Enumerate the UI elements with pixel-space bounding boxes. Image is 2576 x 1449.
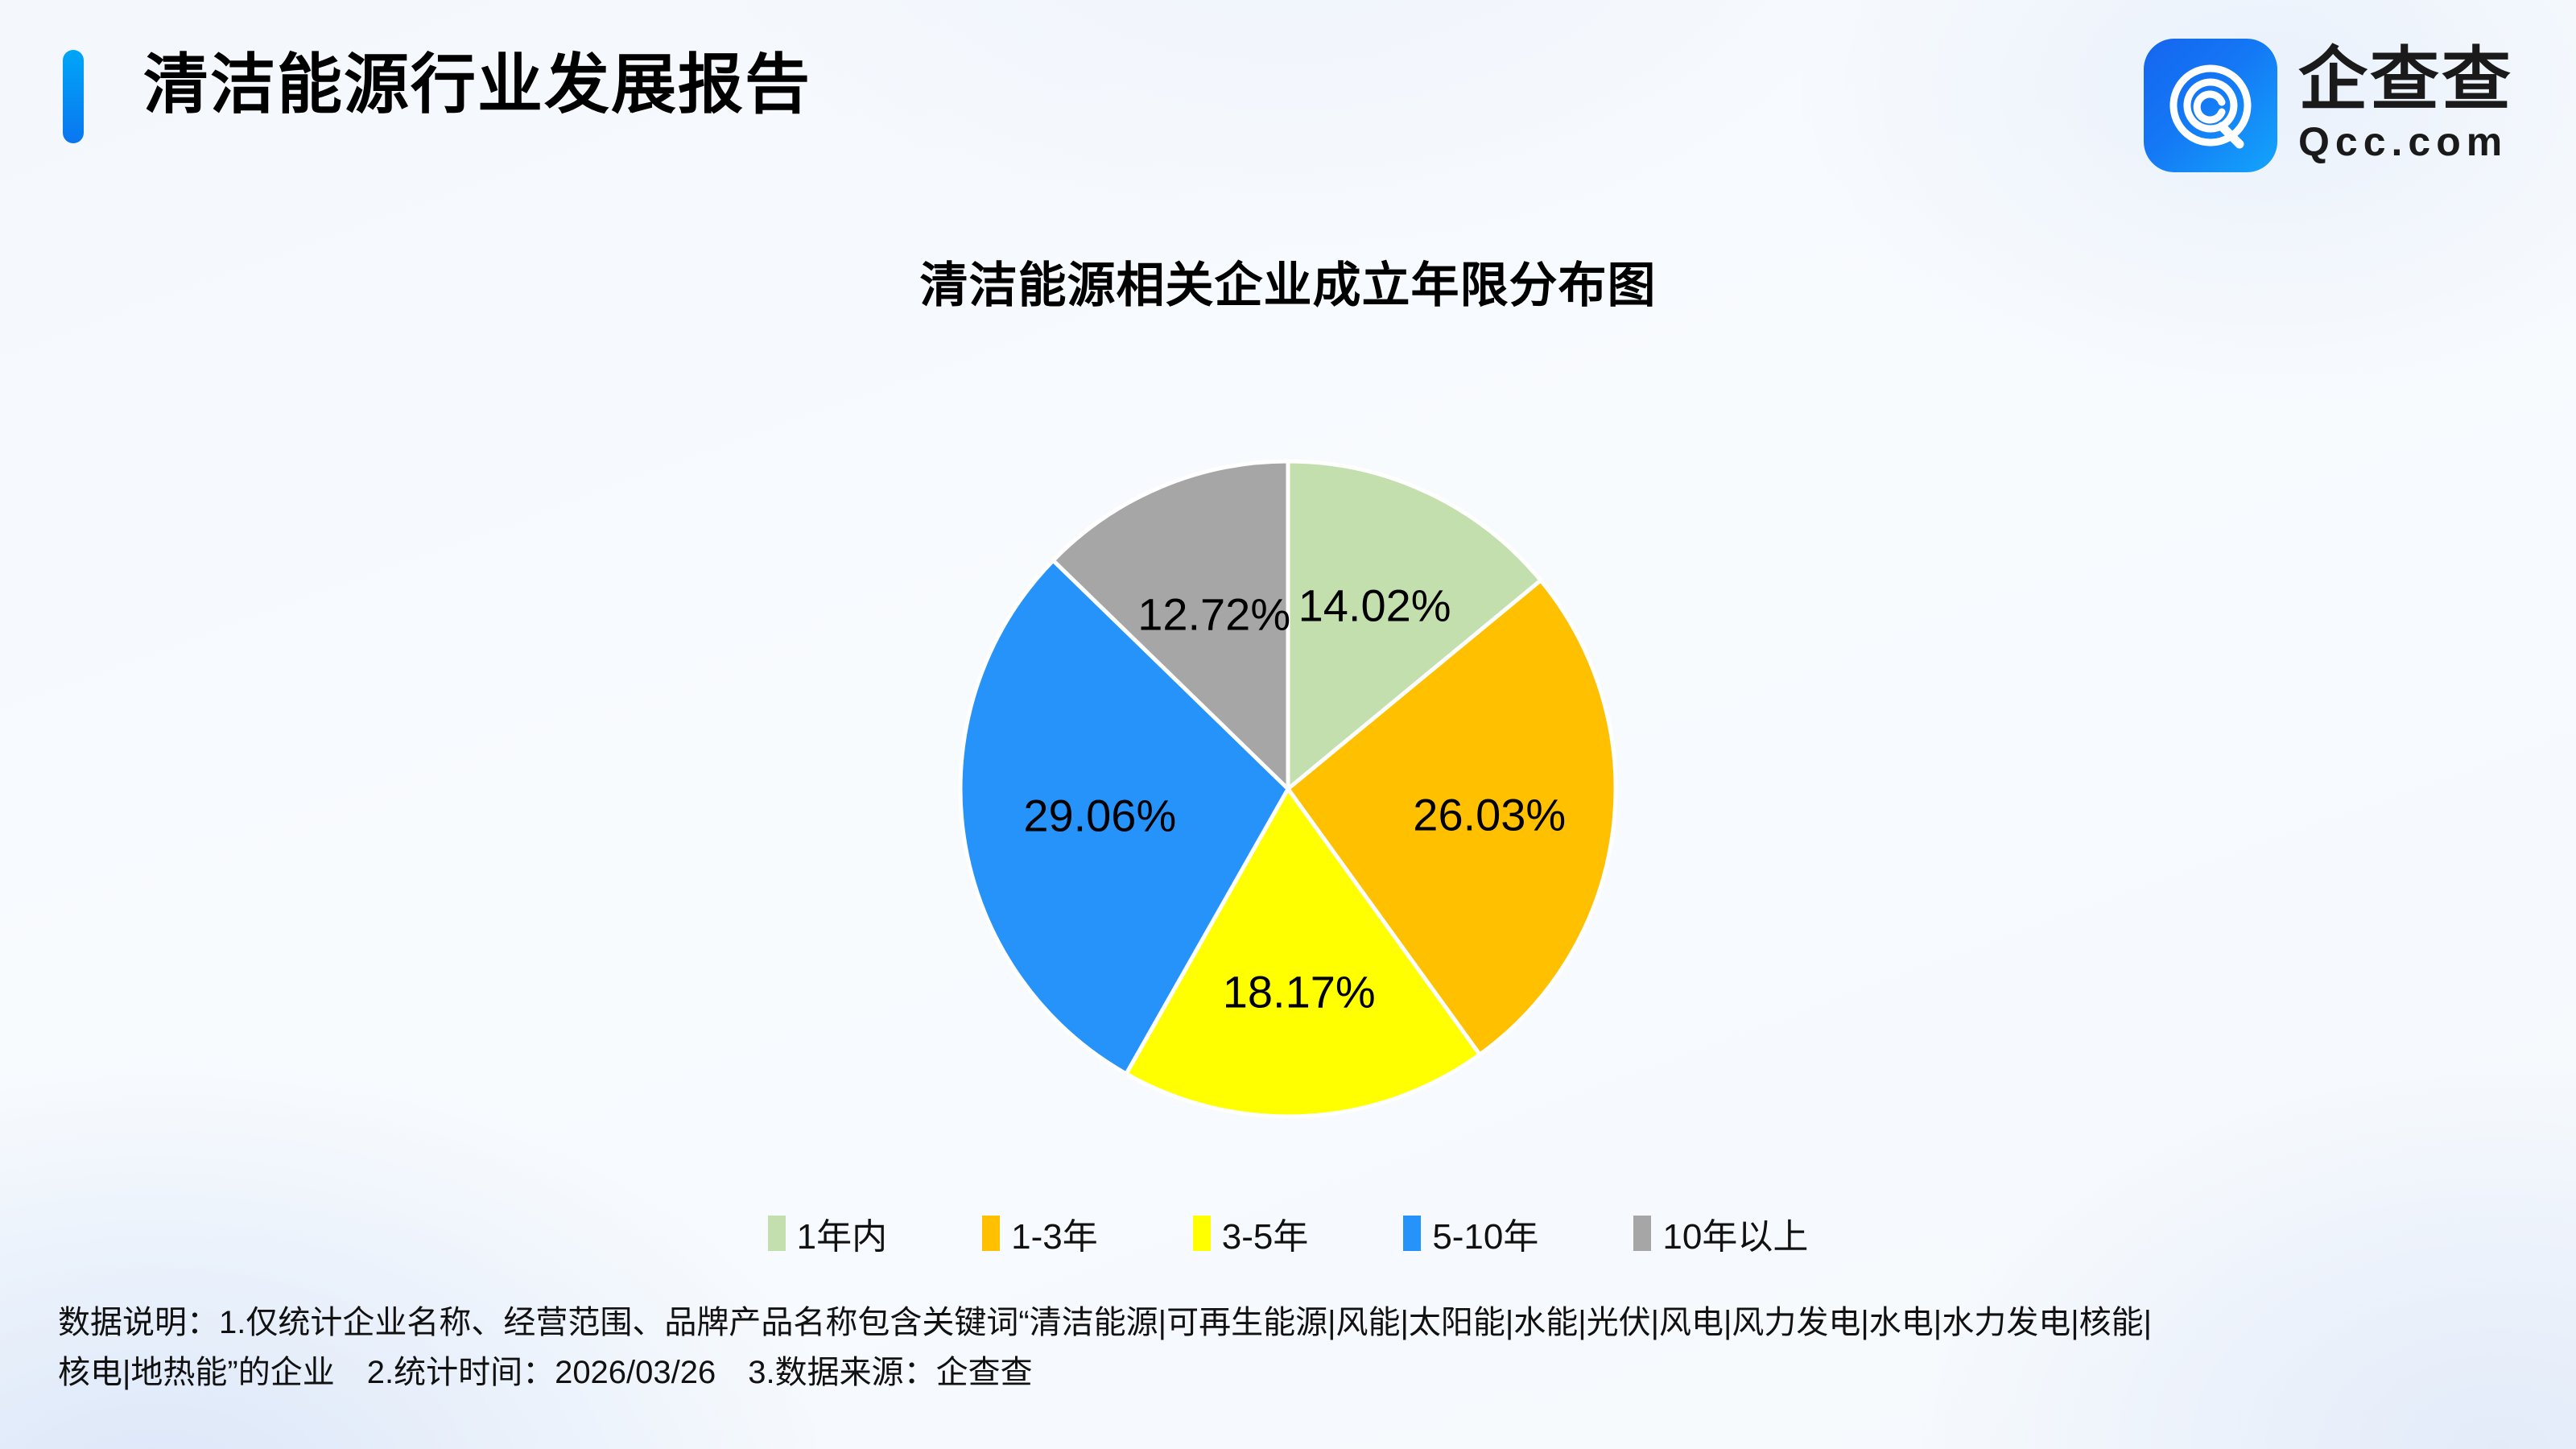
page-title: 清洁能源行业发展报告: [143, 45, 811, 126]
legend-label: 1-3年: [1011, 1207, 1098, 1259]
title-accent-bar: [63, 50, 84, 143]
legend-item-1年内[interactable]: 1年内: [768, 1207, 887, 1259]
page-header: 清洁能源行业发展报告 企查查 Qcc.com: [0, 0, 2576, 185]
legend-swatch-icon: [1633, 1216, 1651, 1251]
pie-chart: 14.02%26.03%18.17%29.06%12.72%: [954, 455, 1622, 1123]
chart-title: 清洁能源相关企业成立年限分布图: [0, 246, 2576, 316]
legend-label: 3-5年: [1222, 1207, 1309, 1259]
legend-label: 1年内: [797, 1207, 887, 1259]
legend-item-5-10年[interactable]: 5-10年: [1403, 1207, 1538, 1259]
legend-swatch-icon: [982, 1216, 1000, 1251]
qcc-logo: 企查查 Qcc.com: [2144, 39, 2513, 172]
pie-slice-label-3-5年: 18.17%: [1223, 965, 1376, 1018]
qcc-q-logo-icon: [2144, 39, 2277, 172]
legend-swatch-icon: [1193, 1216, 1211, 1251]
legend-item-10年以上[interactable]: 10年以上: [1633, 1207, 1808, 1259]
legend-item-3-5年[interactable]: 3-5年: [1193, 1207, 1309, 1259]
report-page: 清洁能源行业发展报告 企查查 Qcc.com 清洁能源相关企业成立年限分布图: [0, 0, 2576, 1449]
legend-label: 5-10年: [1432, 1207, 1538, 1259]
pie-slice-label-1-3年: 26.03%: [1413, 789, 1566, 841]
qcc-brand-en: Qcc.com: [2298, 119, 2508, 166]
footnote-line-1: 数据说明：1.仅统计企业名称、经营范围、品牌产品名称包含关键词“清洁能源|可再生…: [58, 1298, 2521, 1348]
footnote: 数据说明：1.仅统计企业名称、经营范围、品牌产品名称包含关键词“清洁能源|可再生…: [58, 1298, 2521, 1397]
qcc-brand-cn: 企查查: [2298, 45, 2513, 116]
chart-legend: 1年内1-3年3-5年5-10年10年以上: [0, 1207, 2576, 1259]
footnote-line-2: 核电|地热能”的企业 2.统计时间：2026/03/26 3.数据来源：企查查: [58, 1348, 2521, 1397]
pie-slice-label-10年以上: 12.72%: [1137, 588, 1290, 640]
pie-slice-label-5-10年: 29.06%: [1023, 790, 1176, 842]
legend-label: 10年以上: [1662, 1207, 1808, 1259]
legend-swatch-icon: [1403, 1216, 1421, 1251]
legend-swatch-icon: [768, 1216, 786, 1251]
qcc-logo-text: 企查查 Qcc.com: [2298, 45, 2513, 165]
pie-slice-label-1年内: 14.02%: [1298, 579, 1451, 631]
legend-item-1-3年[interactable]: 1-3年: [982, 1207, 1098, 1259]
